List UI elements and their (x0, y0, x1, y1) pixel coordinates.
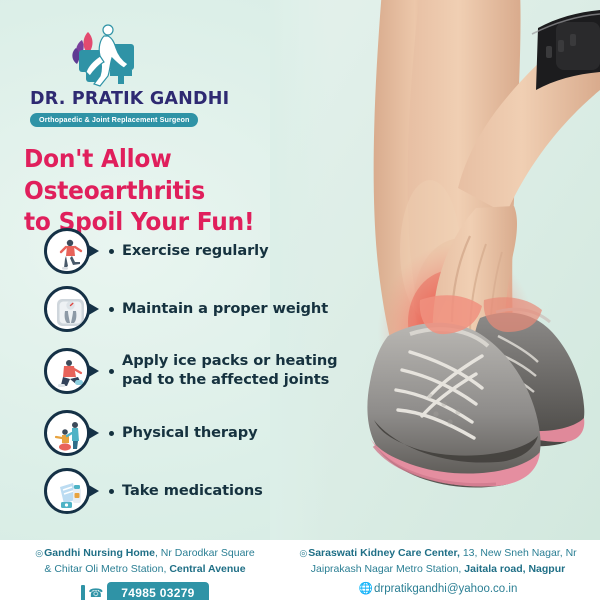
list-item: Take medications (44, 468, 344, 514)
email-row[interactable]: 🌐drpratikgandhi@yahoo.co.in (282, 581, 594, 598)
list-item: Exercise regularly (44, 228, 344, 274)
brand-logo: DR. PRATIK GANDHI Orthopaedic & Joint Re… (30, 18, 195, 127)
location-pin-icon: ◎ (35, 548, 43, 558)
tip-badge (44, 348, 90, 394)
brand-name: DR. PRATIK GANDHI (30, 91, 195, 109)
clinic-2-address-1: 13, New Sneh Nagar, Nr (460, 547, 577, 559)
clinic-2-address-2: Jaiprakash Nagar Metro Station, (311, 563, 465, 575)
location-pin-icon: ◎ (299, 548, 307, 558)
phone-icon: ☎ (88, 584, 103, 600)
weight-scale-icon (51, 293, 90, 332)
clinic-2-name: Saraswati Kidney Care Center, (308, 547, 460, 559)
medications-icon (51, 475, 90, 514)
tip-text: Apply ice packs or heating pad to the af… (122, 352, 344, 390)
clinic-1-name: Gandhi Nursing Home (44, 547, 155, 559)
bullet-dot (109, 431, 114, 436)
phone-accent-bar (81, 585, 85, 600)
badge-ring (44, 410, 90, 456)
clinic-1-address-1: , Nr Darodkar Square (155, 547, 255, 559)
tip-text: Take medications (122, 482, 263, 501)
badge-ring (44, 348, 90, 394)
clinic-1-block: ◎Gandhi Nursing Home, Nr Darodkar Square… (10, 546, 280, 600)
clinic-1-address-2: & Chitar Oli Metro Station, (44, 563, 169, 575)
exercise-running-icon (51, 235, 90, 274)
phone-number[interactable]: 74985 03279 (107, 582, 208, 600)
list-item: Apply ice packs or heating pad to the af… (44, 344, 344, 398)
tip-badge (44, 286, 90, 332)
bullet-dot (109, 307, 114, 312)
tip-text: Physical therapy (122, 424, 258, 443)
badge-ring (44, 286, 90, 332)
list-item: Maintain a proper weight (44, 286, 344, 332)
badge-ring (44, 228, 90, 274)
clinic-1-address-bold: Central Avenue (169, 563, 245, 575)
footer-contact-bar: ◎Gandhi Nursing Home, Nr Darodkar Square… (0, 540, 600, 600)
page-title: Don't Allow Osteoarthritis to Spoil Your… (24, 143, 322, 238)
bullet-dot (109, 369, 114, 374)
bullet-dot (109, 489, 114, 494)
clinic-2-block: ◎Saraswati Kidney Care Center, 13, New S… (282, 546, 594, 598)
brand-tagline: Orthopaedic & Joint Replacement Surgeon (30, 113, 198, 127)
physical-therapy-icon (51, 417, 90, 456)
tip-text: Maintain a proper weight (122, 300, 328, 319)
list-item: Physical therapy (44, 410, 344, 456)
bullet-dot (109, 249, 114, 254)
badge-ring (44, 468, 90, 514)
running-woman-medical-cross-logo-icon (30, 18, 195, 90)
tip-badge (44, 228, 90, 274)
email-address[interactable]: drpratikgandhi@yahoo.co.in (374, 583, 517, 595)
mint-background-panel: DR. PRATIK GANDHI Orthopaedic & Joint Re… (0, 0, 600, 540)
phone-row[interactable]: ☎ 74985 03279 (10, 582, 280, 600)
headline-line-1: Don't Allow Osteoarthritis (24, 144, 205, 205)
tip-badge (44, 410, 90, 456)
clinic-2-address-bold: Jaitala road, Nagpur (464, 563, 565, 575)
ice-pack-heating-pad-icon (51, 355, 90, 394)
poster-root: DR. PRATIK GANDHI Orthopaedic & Joint Re… (0, 0, 600, 600)
globe-icon: 🌐 (359, 583, 373, 595)
tip-badge (44, 468, 90, 514)
tips-list: Exercise regularly (44, 228, 344, 526)
tip-text: Exercise regularly (122, 242, 269, 261)
